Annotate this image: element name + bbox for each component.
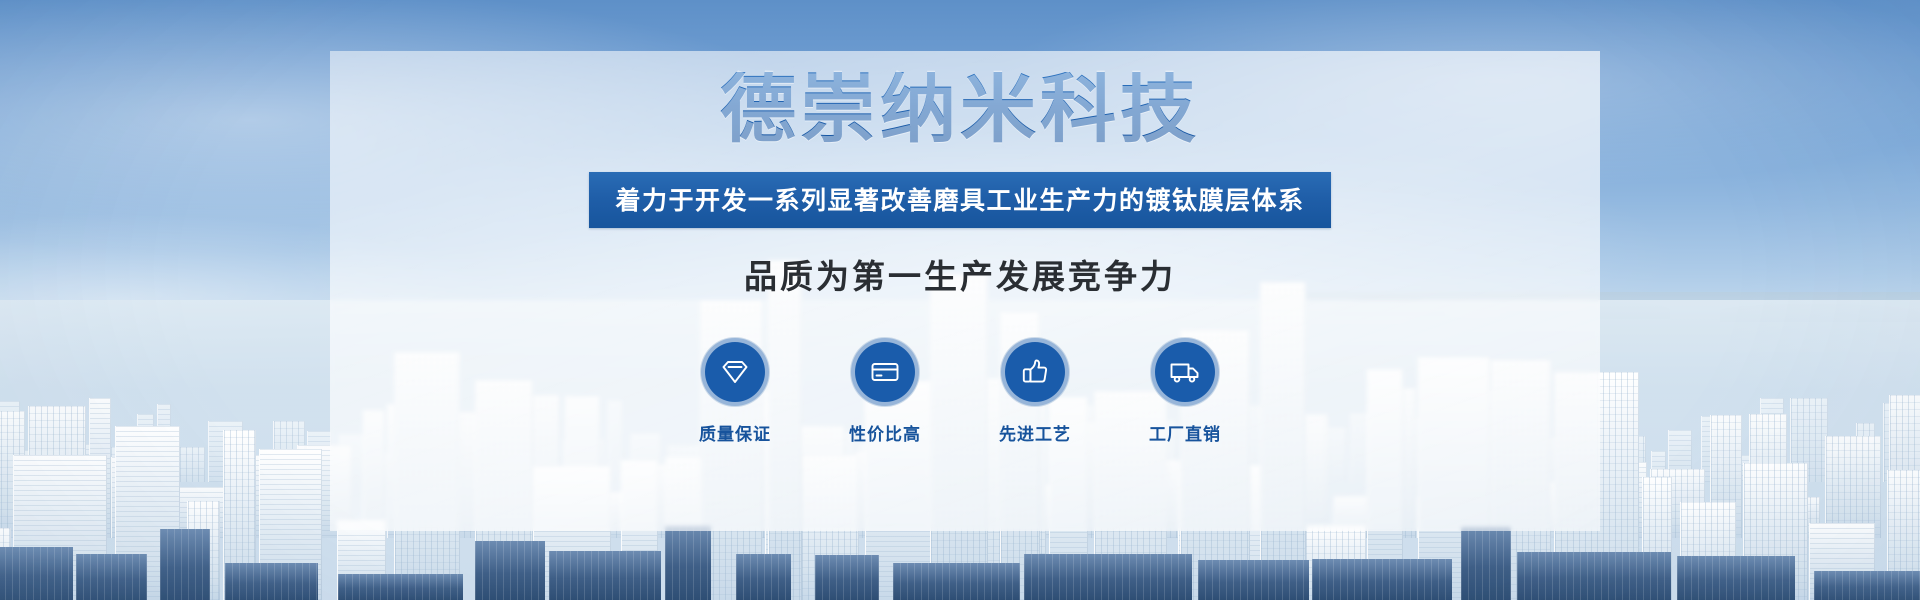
feature-label: 先进工艺 [999, 420, 1071, 445]
feature-list: 质量保证 性价比高 [693, 338, 1227, 445]
banner-content: 德崇纳米科技 着力于开发一系列显著改善磨具工业生产力的镀钛膜层体系 品质为第一生… [0, 0, 1920, 600]
feature-item-value[interactable]: 性价比高 [843, 338, 927, 445]
feature-label: 质量保证 [699, 420, 771, 445]
subtitle-ribbon: 着力于开发一系列显著改善磨具工业生产力的镀钛膜层体系 [589, 172, 1330, 228]
truck-icon [1151, 338, 1219, 406]
feature-item-factory-direct[interactable]: 工厂直销 [1143, 338, 1227, 445]
page-title: 德崇纳米科技 [720, 72, 1200, 148]
feature-item-craft[interactable]: 先进工艺 [993, 338, 1077, 445]
hero-banner: 德崇纳米科技 着力于开发一系列显著改善磨具工业生产力的镀钛膜层体系 品质为第一生… [0, 0, 1920, 600]
diamond-icon [701, 338, 769, 406]
feature-label: 性价比高 [849, 420, 921, 445]
feature-label: 工厂直销 [1149, 420, 1221, 445]
thumbs-up-icon [1001, 338, 1069, 406]
credit-card-icon [851, 338, 919, 406]
feature-item-quality[interactable]: 质量保证 [693, 338, 777, 445]
tagline: 品质为第一生产发展竞争力 [744, 250, 1176, 298]
